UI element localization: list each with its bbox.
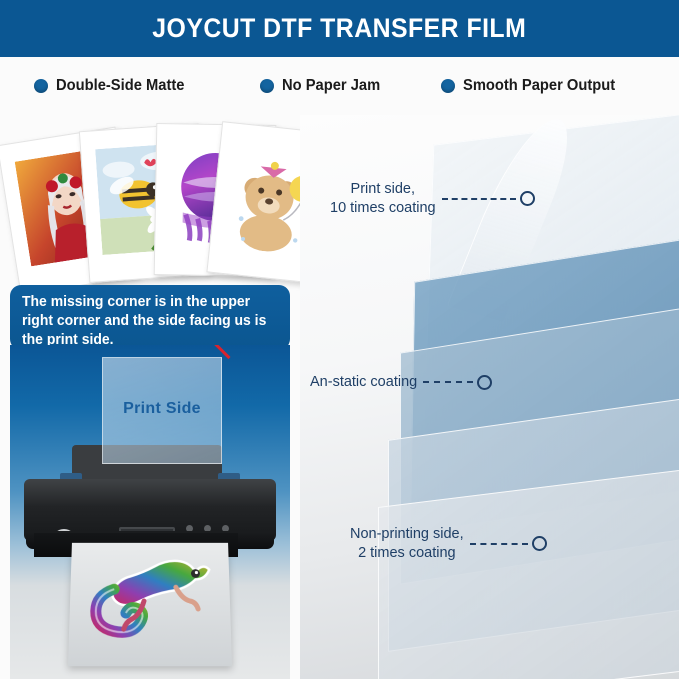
annotation-non-printing-line2: 2 times coating (350, 544, 464, 563)
feature-item-1: Double-Side Matte (34, 57, 191, 115)
right-panel: Print side, 10 times coating An-static c… (300, 115, 679, 679)
feature-list: Double-Side Matte No Paper Jam Smooth Pa… (0, 57, 679, 115)
bullet-dot-icon (441, 79, 455, 93)
annotation-print-side-line1: Print side, (330, 180, 436, 199)
feature-label-3: Smooth Paper Output (463, 77, 615, 95)
left-panel: The missing corner is in the upper right… (0, 115, 300, 679)
annotation-non-printing-side: Non-printing side, 2 times coating (350, 525, 547, 562)
annotation-print-side-line2: 10 times coating (330, 199, 436, 218)
printer-scene: Print Side EPSON (10, 345, 290, 679)
annotation-anti-static: An-static coating (310, 373, 492, 392)
annotation-print-side-text: Print side, 10 times coating (330, 180, 436, 217)
feature-label-1: Double-Side Matte (56, 77, 184, 95)
callout-circle-icon (532, 536, 547, 551)
leader-line (423, 381, 473, 383)
product-infographic: JOYCUT DTF TRANSFER FILM Double-Side Mat… (0, 0, 679, 679)
feature-item-3: Smooth Paper Output (441, 57, 623, 115)
annotation-anti-static-text: An-static coating (310, 373, 417, 392)
bullet-dot-icon (34, 79, 48, 93)
callout-circle-icon (520, 191, 535, 206)
print-side-label: Print Side (103, 400, 221, 418)
printed-sheets-fan (0, 115, 300, 290)
annotation-print-side: Print side, 10 times coating (330, 180, 535, 217)
bullet-dot-icon (260, 79, 274, 93)
missing-corner-marker-icon (192, 345, 231, 378)
print-side-callout-box: The missing corner is in the upper right… (10, 285, 290, 350)
annotation-non-printing-line1: Non-printing side, (350, 525, 464, 544)
printed-sheet-teddy (206, 121, 300, 285)
leader-line (470, 543, 528, 545)
callout-circle-icon (477, 375, 492, 390)
annotation-non-printing-side-text: Non-printing side, 2 times coating (350, 525, 464, 562)
leader-line (442, 198, 516, 200)
teddy-bear-balloon-image (224, 142, 300, 257)
printed-output-sheet (68, 543, 232, 666)
page-title: JOYCUT DTF TRANSFER FILM (153, 13, 527, 44)
feature-item-2: No Paper Jam (260, 57, 385, 115)
header-band: JOYCUT DTF TRANSFER FILM (0, 0, 679, 57)
feature-label-2: No Paper Jam (282, 77, 380, 95)
callout-text: The missing corner is in the upper right… (22, 293, 270, 350)
film-sheet-in-printer: Print Side (102, 357, 222, 464)
rainbow-chameleon-image (83, 550, 217, 645)
